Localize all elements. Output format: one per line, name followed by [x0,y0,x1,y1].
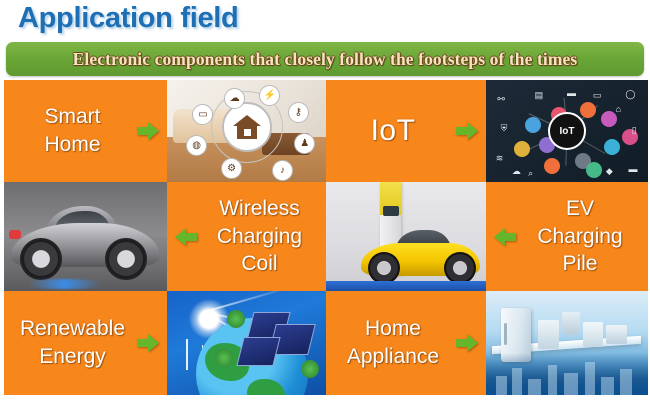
silver-sports-car-photo [4,182,167,291]
car-wheel [105,238,147,280]
building [620,369,631,395]
range-hood [562,312,580,335]
smart-home-room-photo: ☁ ⚡ ▭ ⚷ ♟ ◍ ⚙ ♪ [167,80,326,182]
city-skyline [486,353,648,395]
cell-ev-charging-image [326,182,486,291]
house-icon [222,102,272,152]
icon-wifi: ≋ [496,153,504,164]
icon-car: ▬ [629,164,638,174]
cell-ev-charging-pile[interactable]: EV Charging Pile [486,182,648,291]
cell-iot-image: IoT ⚯ ▤ ▬ ▭ ◯ ⌂ ⛨ ▯ ≋ ☁ ⌕ ◆ ▬ [486,80,648,182]
iot-network-diagram: IoT ⚯ ▤ ▬ ▭ ◯ ⌂ ⛨ ▯ ≋ ☁ ⌕ ◆ ▬ [486,80,648,182]
building [585,362,595,395]
building [548,365,558,395]
icon-document: ▤ [535,90,544,101]
icon-people: ♟ [294,133,315,154]
banner-text: Electronic components that closely follo… [73,49,578,70]
tree [215,349,233,367]
tree [301,360,319,378]
cell-smart-home-image: ☁ ⚡ ▭ ⚷ ♟ ◍ ⚙ ♪ [167,80,326,182]
icon-droplet: ◆ [606,166,613,177]
icon-bulb: ◯ [625,89,635,100]
building [512,368,522,395]
cell-renewable-energy-image [167,291,326,395]
yellow-car-charging-station-photo [326,182,486,291]
cell-label-renewable-energy: Renewable Energy [20,315,125,370]
icon-globe: ◍ [186,135,207,156]
microwave [606,325,627,344]
arrow-right-icon [137,122,159,140]
charging-pile-screen [383,206,399,216]
cell-wireless-charging-image [4,182,167,291]
home-appliances-city-photo [486,291,648,395]
arrow-right-icon [456,122,478,140]
network-node [544,158,560,174]
oven [538,320,559,349]
banner: Electronic components that closely follo… [6,42,644,76]
car-wheel [20,238,62,280]
icon-search: ⌕ [528,168,533,179]
building [528,379,541,395]
iot-core-node: IoT [548,112,586,150]
wireless-charging-glow [27,279,102,289]
network-node [586,162,602,178]
floor-strip [326,281,486,291]
cell-home-appliance[interactable]: Home Appliance [326,291,486,395]
icon-shield: ⛨ [501,123,508,134]
cell-smart-home[interactable]: Smart Home [4,80,167,182]
arrow-right-icon [137,334,159,352]
arrow-right-icon [456,334,478,352]
building [601,377,614,395]
network-node [604,139,620,155]
landmass [247,379,285,395]
cell-label-home-appliance: Home Appliance [347,315,439,370]
wind-turbine [186,339,188,370]
car-wheel [368,252,400,284]
building [564,373,579,395]
washing-machine [583,322,602,347]
application-field-grid: Smart Home ☁ ⚡ ▭ ⚷ ♟ ◍ ⚙ ♪ IoT [4,80,648,395]
cell-wireless-charging-coil[interactable]: Wireless Charging Coil [167,182,326,291]
arrow-left-icon [175,228,197,246]
network-node [514,141,530,157]
page-title: Application field [18,2,238,35]
icon-music: ♪ [272,160,293,181]
icon-home: ⌂ [616,104,621,114]
cell-label-wireless-charging-coil: Wireless Charging Coil [217,195,302,278]
icon-monitor: ▭ [593,90,602,101]
solar-panels-earth-photo [167,291,326,395]
icon-cloud: ☁ [512,166,521,177]
icon-phone: ▯ [632,125,637,136]
icon-gear: ⚙ [221,158,242,179]
cell-home-appliance-image [486,291,648,395]
network-node [525,117,541,133]
network-node [580,102,596,118]
cell-label-smart-home: Smart Home [44,103,100,158]
cell-renewable-energy[interactable]: Renewable Energy [4,291,167,395]
icon-plug: ⚯ [497,94,505,105]
cell-label-ev-charging-pile: EV Charging Pile [537,195,622,278]
cell-iot[interactable]: IoT [326,80,486,182]
arrow-left-icon [494,228,516,246]
solar-panel [237,337,281,366]
cell-label-iot: IoT [371,111,416,151]
icon-car: ▬ [567,88,576,98]
car-wheel [444,252,476,284]
building [496,376,507,395]
car-taillight [9,230,21,239]
